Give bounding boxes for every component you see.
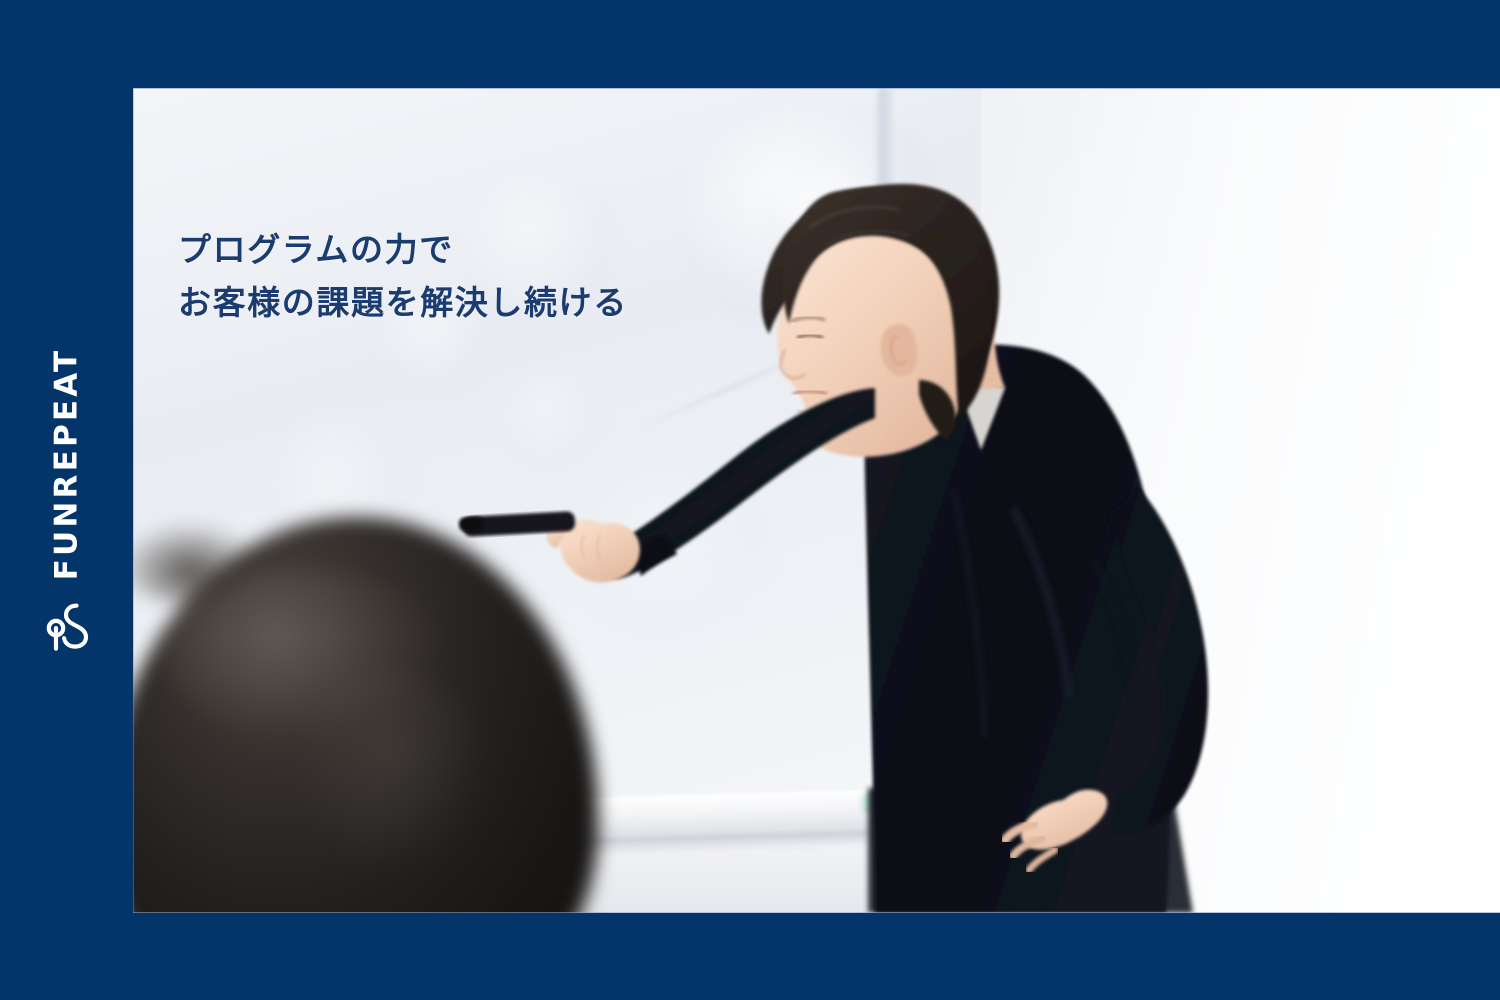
headline-line-2: お客様の課題を解決し続ける bbox=[178, 276, 628, 329]
brand-rail: FUNREPEAT bbox=[0, 0, 133, 1000]
audience-head bbox=[133, 517, 598, 913]
slide-canvas: プログラムの力で お客様の課題を解決し続ける FUNREPEAT bbox=[0, 0, 1500, 1000]
brand-lockup[interactable]: FUNREPEAT bbox=[0, 348, 133, 653]
headline-line-1: プログラムの力で bbox=[178, 223, 628, 276]
brand-wordmark[interactable]: FUNREPEAT bbox=[51, 348, 82, 581]
page-title: プログラムの力で お客様の課題を解決し続ける bbox=[178, 223, 628, 330]
audience-hair-highlight bbox=[293, 670, 490, 875]
hero-photo: プログラムの力で お客様の課題を解決し続ける bbox=[133, 88, 1500, 913]
funrepeat-loop-icon bbox=[44, 596, 90, 652]
